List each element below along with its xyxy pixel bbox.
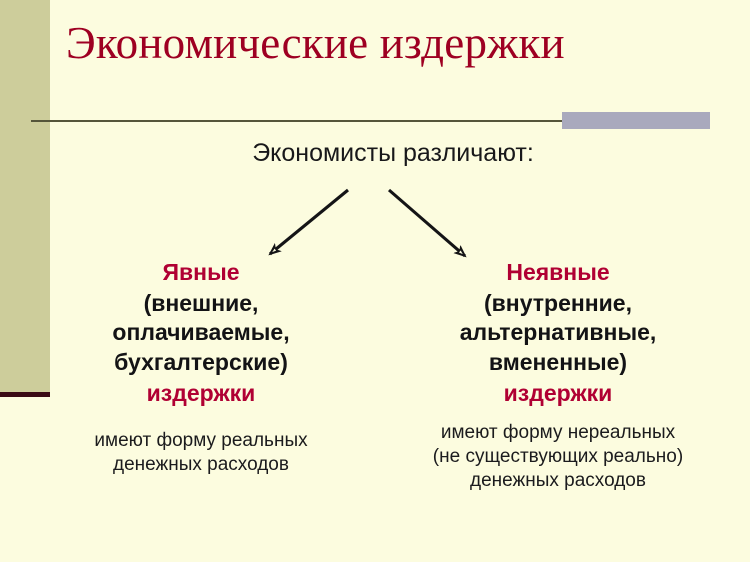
branch-implicit-tail: издержки — [398, 379, 718, 409]
branch-explicit-body: (внешние, оплачиваемые, бухгалтерские) — [46, 289, 356, 377]
branch-implicit-heading: Неявные — [398, 258, 718, 288]
branch-implicit-note-line-3: денежных расходов — [398, 469, 718, 493]
branch-explicit-body-line-1: (внешние, — [46, 289, 356, 318]
branch-explicit-costs: Явные (внешние, оплачиваемые, бухгалтерс… — [46, 258, 356, 477]
branch-explicit-body-line-2: оплачиваемые, — [46, 318, 356, 347]
branch-implicit-body-line-3: вмененные) — [398, 348, 718, 377]
arrow-to-implicit-line — [389, 190, 465, 256]
header-accent-chip — [562, 112, 710, 129]
branch-explicit-note-line-2: денежных расходов — [46, 453, 356, 477]
branch-implicit-note-line-1: имеют форму нереальных — [398, 421, 718, 445]
arrow-to-explicit-line — [270, 190, 348, 254]
branch-implicit-note-line-2: (не существующих реально) — [398, 445, 718, 469]
page-title: Экономические издержки — [66, 20, 726, 67]
branch-explicit-body-line-3: бухгалтерские) — [46, 348, 356, 377]
branch-implicit-note: имеют форму нереальных (не существующих … — [398, 421, 718, 492]
lead-text: Экономисты различают: — [0, 139, 750, 168]
branch-explicit-heading: Явные — [46, 258, 356, 288]
branch-explicit-note: имеют форму реальных денежных расходов — [46, 429, 356, 477]
branch-implicit-body-line-2: альтернативные, — [398, 318, 718, 347]
slide-canvas: Экономические издержки Экономисты различ… — [0, 0, 750, 562]
branch-explicit-note-line-1: имеют форму реальных — [46, 429, 356, 453]
branch-implicit-costs: Неявные (внутренние, альтернативные, вме… — [398, 258, 718, 492]
branch-implicit-body: (внутренние, альтернативные, вмененные) — [398, 289, 718, 377]
branch-explicit-tail: издержки — [46, 379, 356, 409]
left-decorative-band — [0, 0, 50, 392]
left-band-footer-bar — [0, 392, 50, 397]
branch-implicit-body-line-1: (внутренние, — [398, 289, 718, 318]
